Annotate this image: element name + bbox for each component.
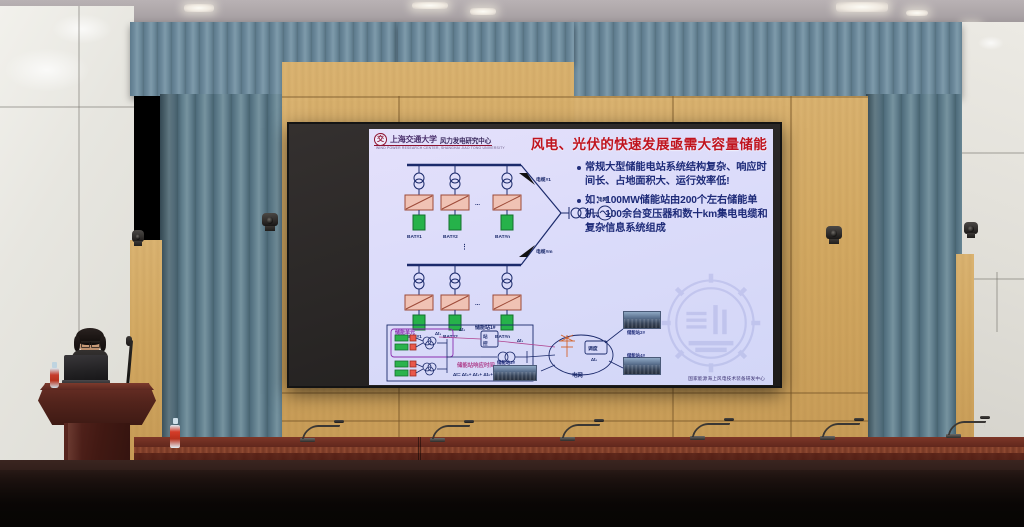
- microphone-capsule: [980, 416, 990, 419]
- battery-label: BAT#1: [407, 334, 422, 340]
- camera-mount: [967, 233, 975, 238]
- wood-panel-seam: [790, 96, 792, 462]
- camera-mount: [265, 226, 275, 231]
- ceiling-light: [412, 2, 448, 9]
- unit-box-label: 储能单元: [395, 329, 415, 336]
- ceiling-light: [184, 4, 214, 12]
- foreground-shadow: [0, 470, 1024, 527]
- svg-text:控: 控: [483, 340, 488, 347]
- bullet-dot-icon: [577, 166, 581, 170]
- slide-title: 风电、光伏的快速发展亟需大容量储能: [529, 133, 769, 153]
- battery-label: BAT#1: [407, 234, 422, 240]
- microphone-arm: [562, 424, 601, 438]
- wood-panel-seam: [282, 96, 868, 98]
- svg-text:⋮: ⋮: [461, 243, 468, 251]
- thumb-label: 储能站3#: [497, 360, 515, 366]
- wall-light-reflection: [52, 14, 112, 44]
- station-label: 储能站1#: [475, 324, 496, 331]
- bottle-cap: [173, 418, 178, 424]
- logo-organization: 上海交通大学: [390, 134, 437, 145]
- cable-label: 电缆#m: [536, 248, 553, 255]
- svg-text:...: ...: [475, 201, 480, 207]
- ptz-camera-icon: [262, 213, 278, 231]
- ptz-camera-icon: [132, 230, 144, 246]
- battery-label: BAT#n: [495, 234, 510, 240]
- sjtu-gear-watermark-icon: [655, 267, 767, 379]
- thumb-label: 储能站4#: [627, 353, 645, 359]
- microphone-arm: [822, 423, 861, 437]
- svg-text:Δt₀: Δt₀: [591, 357, 597, 362]
- presenter-hair-side: [74, 336, 80, 351]
- cable-label: 电缆#1: [536, 176, 551, 183]
- water-bottle: [50, 362, 59, 388]
- svg-text:...: ...: [475, 301, 480, 307]
- svg-text:站: 站: [483, 333, 488, 340]
- table-microphone: [430, 422, 476, 442]
- svg-text:Δt₃: Δt₃: [435, 331, 441, 336]
- bullet-dot-icon: [577, 199, 581, 203]
- microphone-capsule: [334, 420, 344, 423]
- microphone-arm: [302, 425, 341, 439]
- curtain-shadow: [160, 94, 182, 464]
- ptz-camera-icon: [964, 222, 978, 238]
- table-microphone: [560, 421, 606, 441]
- projection-screen: 交 上海交通大学 风力发电研究中心 WIND POWER RESEARCH CE…: [287, 122, 782, 388]
- laptop-screen: [64, 355, 108, 381]
- table-microphone: [946, 418, 992, 438]
- presenter-hair-side: [100, 336, 106, 351]
- battery-label: BAT#2: [443, 234, 458, 240]
- station-photo-3: [493, 365, 537, 381]
- microphone-arm: [948, 421, 987, 435]
- lecture-hall-scene: 交 上海交通大学 风力发电研究中心 WIND POWER RESEARCH CE…: [0, 0, 1024, 527]
- bottle-body: [50, 368, 59, 388]
- wall-seam: [996, 272, 998, 332]
- logo-department: 风力发电研究中心: [440, 135, 491, 145]
- presentation-slide: 交 上海交通大学 风力发电研究中心 WIND POWER RESEARCH CE…: [369, 129, 773, 385]
- camera-lens: [968, 226, 974, 232]
- slide-footer: 国家能源海上风电技术装备研发中心: [688, 376, 765, 382]
- bottle-body: [170, 425, 180, 448]
- ceiling-light: [470, 8, 496, 15]
- camera-mount: [829, 239, 839, 244]
- svg-text:Δt₁: Δt₁: [517, 338, 523, 343]
- microphone-arm: [692, 423, 731, 437]
- bullet-text: 常规大型储能电站系统结构复杂、响应时间长、占地面积大、运行效率低!: [585, 161, 773, 189]
- wall-light-reflection: [978, 36, 1004, 50]
- ceiling-light: [836, 2, 888, 12]
- dispatch-label: 调度: [588, 345, 598, 352]
- curtain-valance-center: [398, 22, 574, 62]
- grid-label: 电网: [572, 371, 583, 379]
- microphone-capsule: [854, 418, 864, 421]
- curtain-valance-right: [572, 22, 962, 96]
- logo-subline: WIND POWER RESEARCH CENTER, SHANGHAI JIA…: [376, 146, 505, 150]
- wall-seam: [0, 106, 134, 108]
- svg-text:Δt₂: Δt₂: [459, 327, 465, 332]
- microphone-arm: [432, 425, 471, 439]
- battery-label: BAT#n: [495, 334, 510, 340]
- wall-seam: [958, 152, 1024, 154]
- glasses-icon: [81, 341, 100, 345]
- microphone-capsule: [594, 419, 604, 422]
- microphone-capsule: [724, 418, 734, 421]
- battery-label: BAT#2: [443, 334, 458, 340]
- bullet-text: 如：100MW储能站由200个左右储能单机、100余台变压器和数十km集电电缆和…: [585, 194, 773, 236]
- camera-mount: [134, 241, 141, 246]
- curtain-shadow: [866, 94, 884, 476]
- laptop: [62, 355, 110, 385]
- water-bottle-on-table: [170, 418, 180, 448]
- slide-bullet-list: 常规大型储能电站系统结构复杂、响应时间长、占地面积大、运行效率低! 如：100M…: [577, 161, 773, 241]
- wood-panel-seam: [282, 392, 868, 394]
- table-microphone: [690, 420, 736, 440]
- formula-caption: 储能站响应时间: [456, 361, 495, 369]
- table-microphone: [820, 420, 866, 440]
- list-item: 如：100MW储能站由200个左右储能单机、100余台变压器和数十km集电电缆和…: [577, 194, 773, 236]
- ptz-camera-icon: [826, 226, 842, 244]
- microphone-capsule: [464, 420, 474, 423]
- thumb-label: 储能站2#: [627, 330, 645, 336]
- table-microphone: [300, 422, 346, 442]
- list-item: 常规大型储能电站系统结构复杂、响应时间长、占地面积大、运行效率低!: [577, 161, 773, 189]
- ceiling-light: [906, 10, 928, 16]
